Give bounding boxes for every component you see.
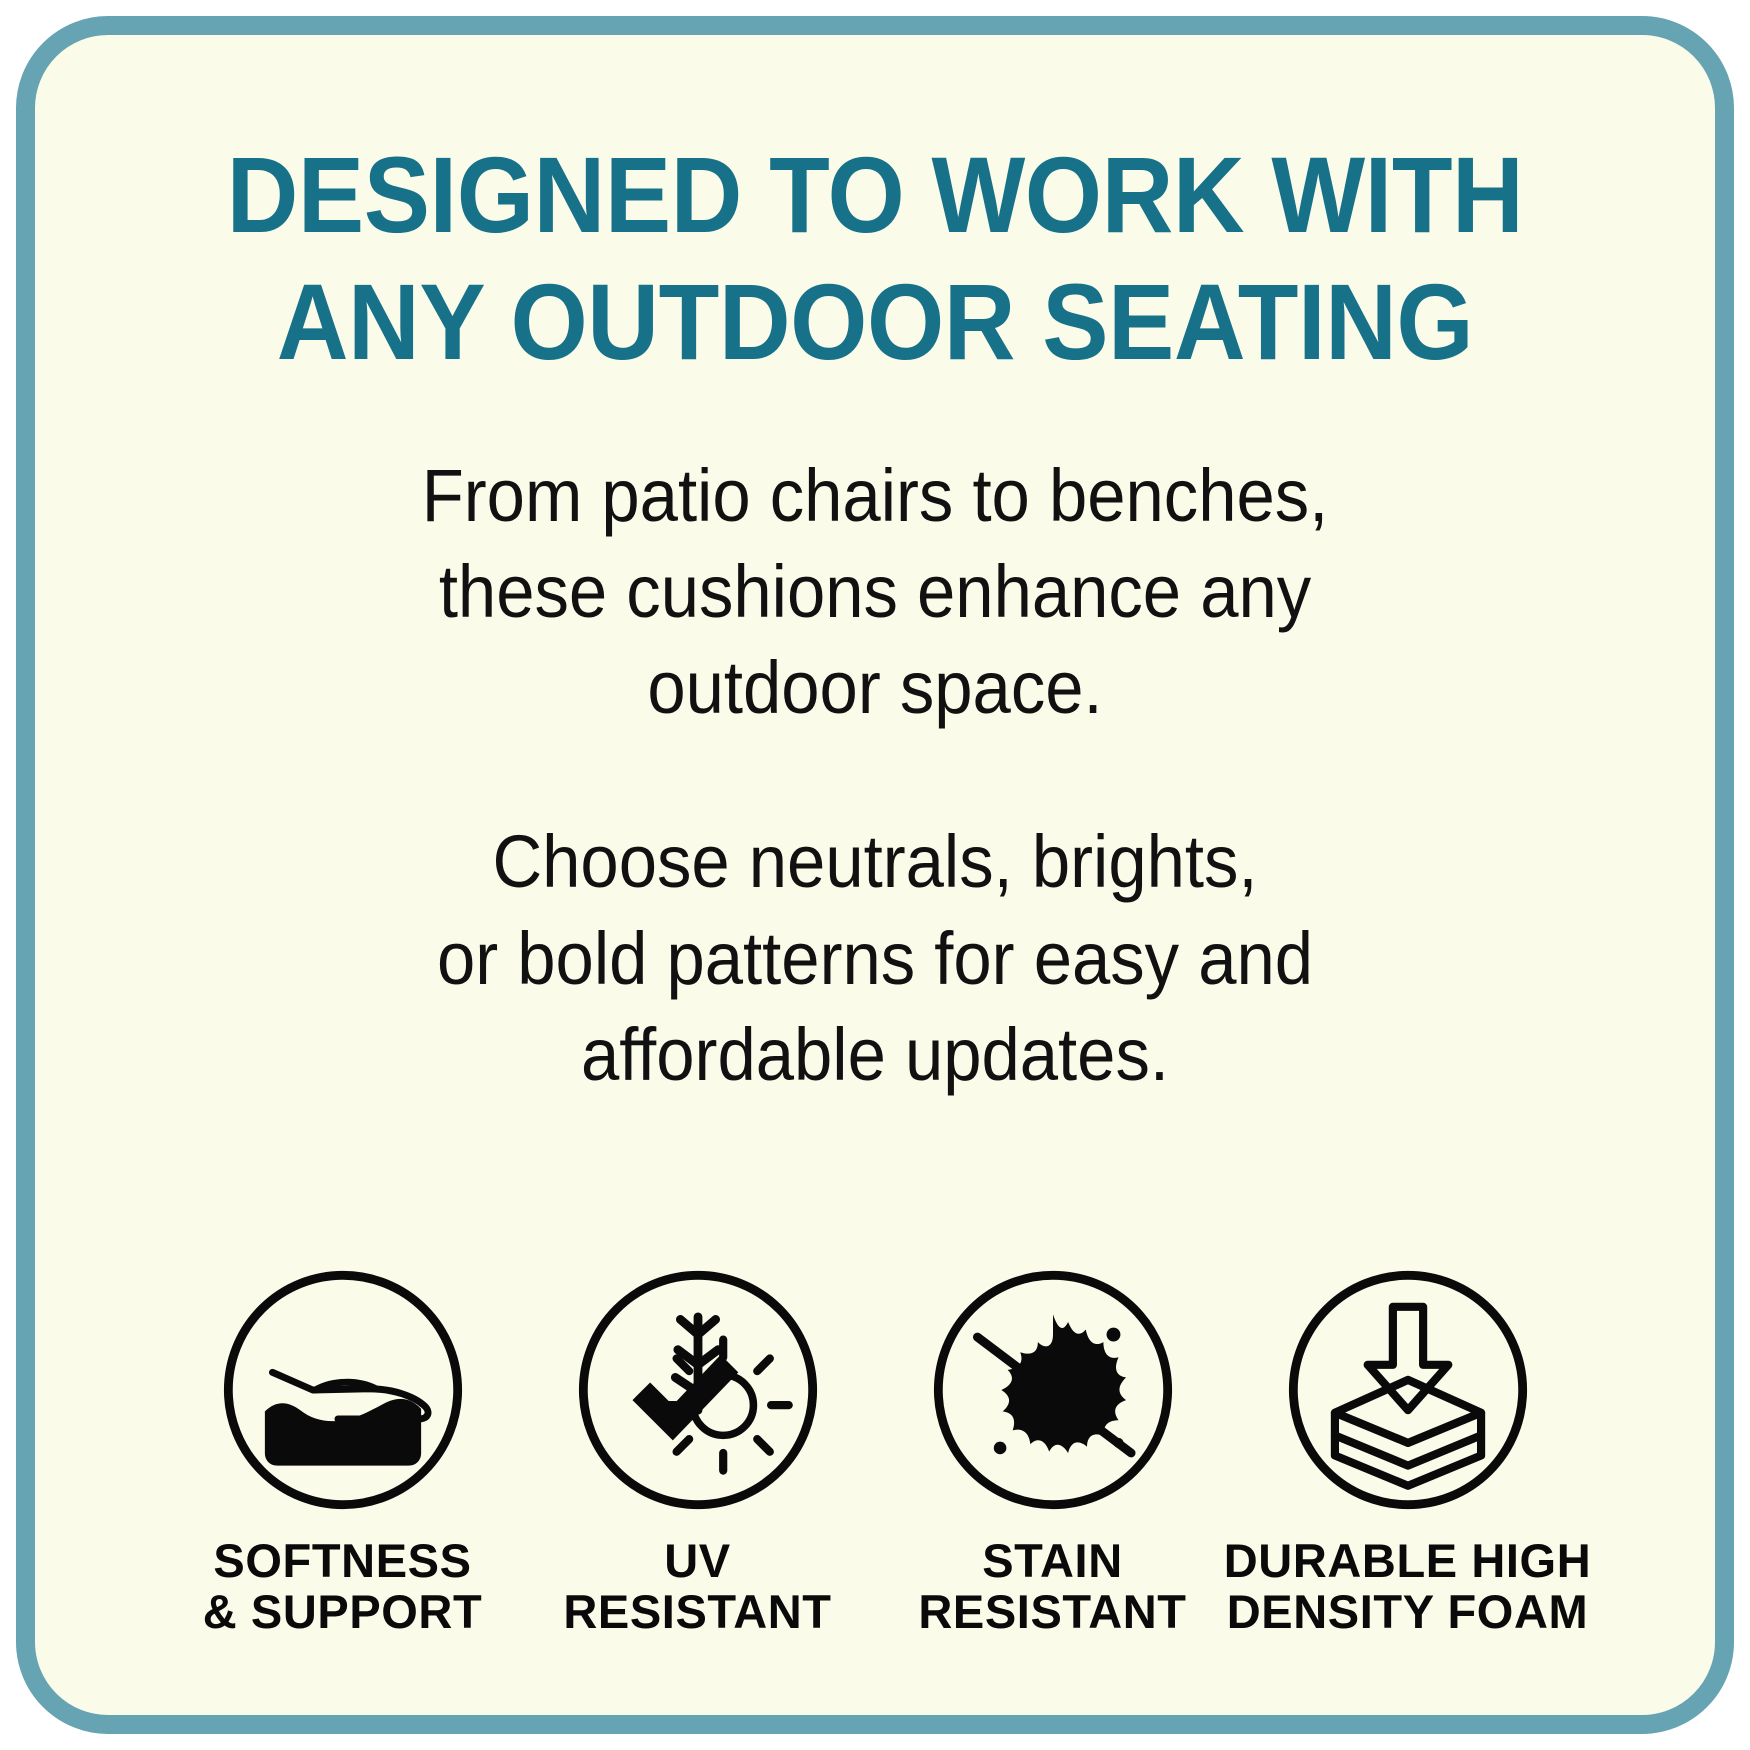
sun-rays-checkmark-icon [572, 1264, 824, 1516]
paragraph-2-line-1: Choose neutrals, brights, [233, 814, 1516, 910]
label-line-1: UV [563, 1536, 831, 1586]
arrow-down-foam-layers-icon [1282, 1264, 1534, 1516]
label-line-2: RESISTANT [918, 1587, 1186, 1637]
page-title-line-1: DESIGNED TO WORK WITH [167, 131, 1584, 258]
paragraph-1: From patio chairs to benches, these cush… [233, 448, 1516, 737]
label-line-1: STAIN [918, 1536, 1186, 1586]
feature-badge-uv-label: UV RESISTANT [563, 1536, 831, 1637]
paragraph-1-line-2: these cushions enhance any [233, 544, 1516, 640]
label-line-2: DENSITY FOAM [1224, 1587, 1592, 1637]
label-line-2: RESISTANT [563, 1587, 831, 1637]
hand-pressing-cushion-icon [217, 1264, 469, 1516]
feature-badge-uv: UV RESISTANT [520, 1264, 875, 1637]
feature-badge-stain-label: STAIN RESISTANT [918, 1536, 1186, 1637]
label-line-1: SOFTNESS [203, 1536, 483, 1586]
feature-badge-softness-label: SOFTNESS & SUPPORT [203, 1536, 483, 1637]
page-title: DESIGNED TO WORK WITH ANY OUTDOOR SEATIN… [102, 35, 1648, 386]
paragraph-2-line-3: affordable updates. [233, 1007, 1516, 1103]
feature-badge-foam: DURABLE HIGH DENSITY FOAM [1230, 1264, 1585, 1637]
page-title-line-2: ANY OUTDOOR SEATING [167, 258, 1584, 385]
card-content: DESIGNED TO WORK WITH ANY OUTDOOR SEATIN… [35, 35, 1715, 1715]
promo-graphic: DESIGNED TO WORK WITH ANY OUTDOOR SEATIN… [0, 0, 1750, 1750]
feature-badge-row: SOFTNESS & SUPPORT [35, 1264, 1715, 1637]
body-copy: From patio chairs to benches, these cush… [35, 386, 1715, 1103]
feature-badge-stain: STAIN RESISTANT [875, 1264, 1230, 1637]
paragraph-2-line-2: or bold patterns for easy and [233, 911, 1516, 1007]
paragraph-2: Choose neutrals, brights, or bold patter… [233, 814, 1516, 1103]
feature-card: DESIGNED TO WORK WITH ANY OUTDOOR SEATIN… [16, 16, 1734, 1734]
feature-badge-foam-label: DURABLE HIGH DENSITY FOAM [1224, 1536, 1592, 1637]
stain-splatter-no-symbol-icon [927, 1264, 1179, 1516]
label-line-2: & SUPPORT [203, 1587, 483, 1637]
paragraph-1-line-3: outdoor space. [233, 640, 1516, 736]
paragraph-1-line-1: From patio chairs to benches, [233, 448, 1516, 544]
label-line-1: DURABLE HIGH [1224, 1536, 1592, 1586]
feature-badge-softness: SOFTNESS & SUPPORT [165, 1264, 520, 1637]
